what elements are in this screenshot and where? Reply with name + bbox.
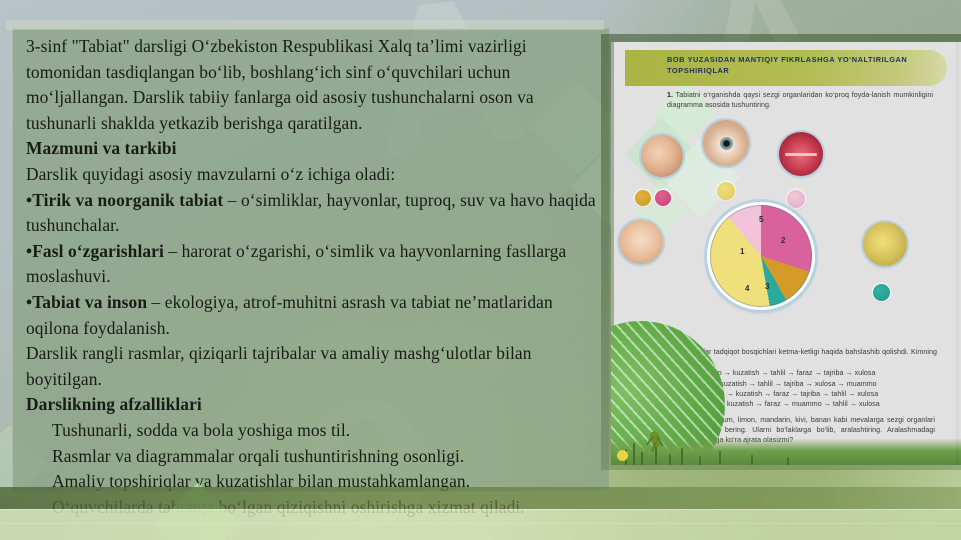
bullet-fasl-ozgarishlari: •Fasl o‘zgarishlari – harorat o‘zgarishi… bbox=[26, 239, 596, 290]
heading-afzalliklari: Darslikning afzalliklari bbox=[26, 392, 596, 418]
heading-afzalliklari-label: Darslikning afzalliklari bbox=[26, 394, 202, 414]
nose-icon bbox=[619, 220, 663, 264]
slide-canvas: A A e 3-sinf "Tabiat" darsligi O‘zbekist… bbox=[0, 0, 961, 540]
page-fold-shade bbox=[956, 42, 961, 465]
pie-label-5: 5 bbox=[759, 215, 763, 224]
advantage-item-2: Rasmlar va diagrammalar orqali tushuntir… bbox=[26, 444, 596, 470]
chapter-header-title: BOB YUZASIDAN MANTIQIY FIKRLASHGA YO‘NAL… bbox=[667, 55, 935, 76]
paragraph-topics-lead: Darslik quyidagi asosiy mavzularni o‘z i… bbox=[26, 162, 596, 188]
task-1-text: 1. Tabiatni o‘rganishda qaysi sezgi orga… bbox=[667, 90, 933, 110]
chapter-header-band: BOB YUZASIDAN MANTIQIY FIKRLASHGA YO‘NAL… bbox=[625, 50, 947, 86]
bullet-tirik-va-noorganik-tabiat: •Tirik va noorganik tabiat – o‘simliklar… bbox=[26, 188, 596, 239]
textbook-page-image: BOB YUZASIDAN MANTIQIY FIKRLASHGA YO‘NAL… bbox=[611, 42, 961, 465]
task-1-body: Tabiatni o‘rganishda qaysi sezgi organla… bbox=[667, 91, 933, 109]
heading-mazmuni: Mazmuni va tarkibi bbox=[26, 136, 596, 162]
pie-label-1: 1 bbox=[740, 247, 744, 256]
hand-skin-icon bbox=[863, 222, 907, 266]
heading-mazmuni-label: Mazmuni va tarkibi bbox=[26, 138, 177, 158]
bullet-1-label: •Tirik va noorganik tabiat bbox=[26, 190, 223, 210]
yellow-flower-illustration bbox=[617, 450, 628, 461]
eye-icon bbox=[703, 120, 749, 166]
strip-hairline-2 bbox=[0, 523, 961, 524]
pie-label-2: 2 bbox=[781, 236, 785, 245]
strip-hairline bbox=[0, 509, 961, 510]
advantage-item-1: Tushunarli, sodda va bola yoshiga mos ti… bbox=[26, 418, 596, 444]
bullet-3-label: •Tabiat va inson bbox=[26, 292, 147, 312]
legend-dot-gold bbox=[635, 190, 651, 206]
lips-icon bbox=[779, 132, 823, 176]
bullet-2-label: •Fasl o‘zgarishlari bbox=[26, 241, 164, 261]
ear-icon bbox=[641, 135, 683, 177]
pie-label-3: 3 bbox=[765, 282, 769, 291]
legend-dot-magenta bbox=[655, 190, 671, 206]
mouth-line bbox=[785, 153, 817, 156]
advantage-item-3: Amaliy topshiriqlar va kuzatishlar bilan… bbox=[26, 469, 596, 495]
sensory-pie-chart: 1 2 3 4 5 bbox=[707, 202, 815, 310]
advantage-item-4: O‘quvchilarda tabiatga bo‘lgan qiziqishn… bbox=[26, 495, 596, 521]
grasshopper-illustration bbox=[645, 425, 667, 451]
pie-label-4: 4 bbox=[745, 284, 749, 293]
description-text-card: 3-sinf "Tabiat" darsligi O‘zbekiston Res… bbox=[12, 28, 610, 492]
legend-dot-teal bbox=[873, 284, 890, 301]
paragraph-intro: 3-sinf "Tabiat" darsligi O‘zbekiston Res… bbox=[26, 34, 596, 136]
legend-dot-pink bbox=[787, 190, 805, 208]
bullet-tabiat-va-inson: •Tabiat va inson – ekologiya, atrof-muhi… bbox=[26, 290, 596, 341]
eye-iris bbox=[720, 137, 733, 150]
paragraph-enriched: Darslik rangli rasmlar, qiziqarli tajrib… bbox=[26, 341, 596, 392]
legend-dot-yellow bbox=[717, 182, 735, 200]
card-top-shadow bbox=[6, 20, 604, 30]
